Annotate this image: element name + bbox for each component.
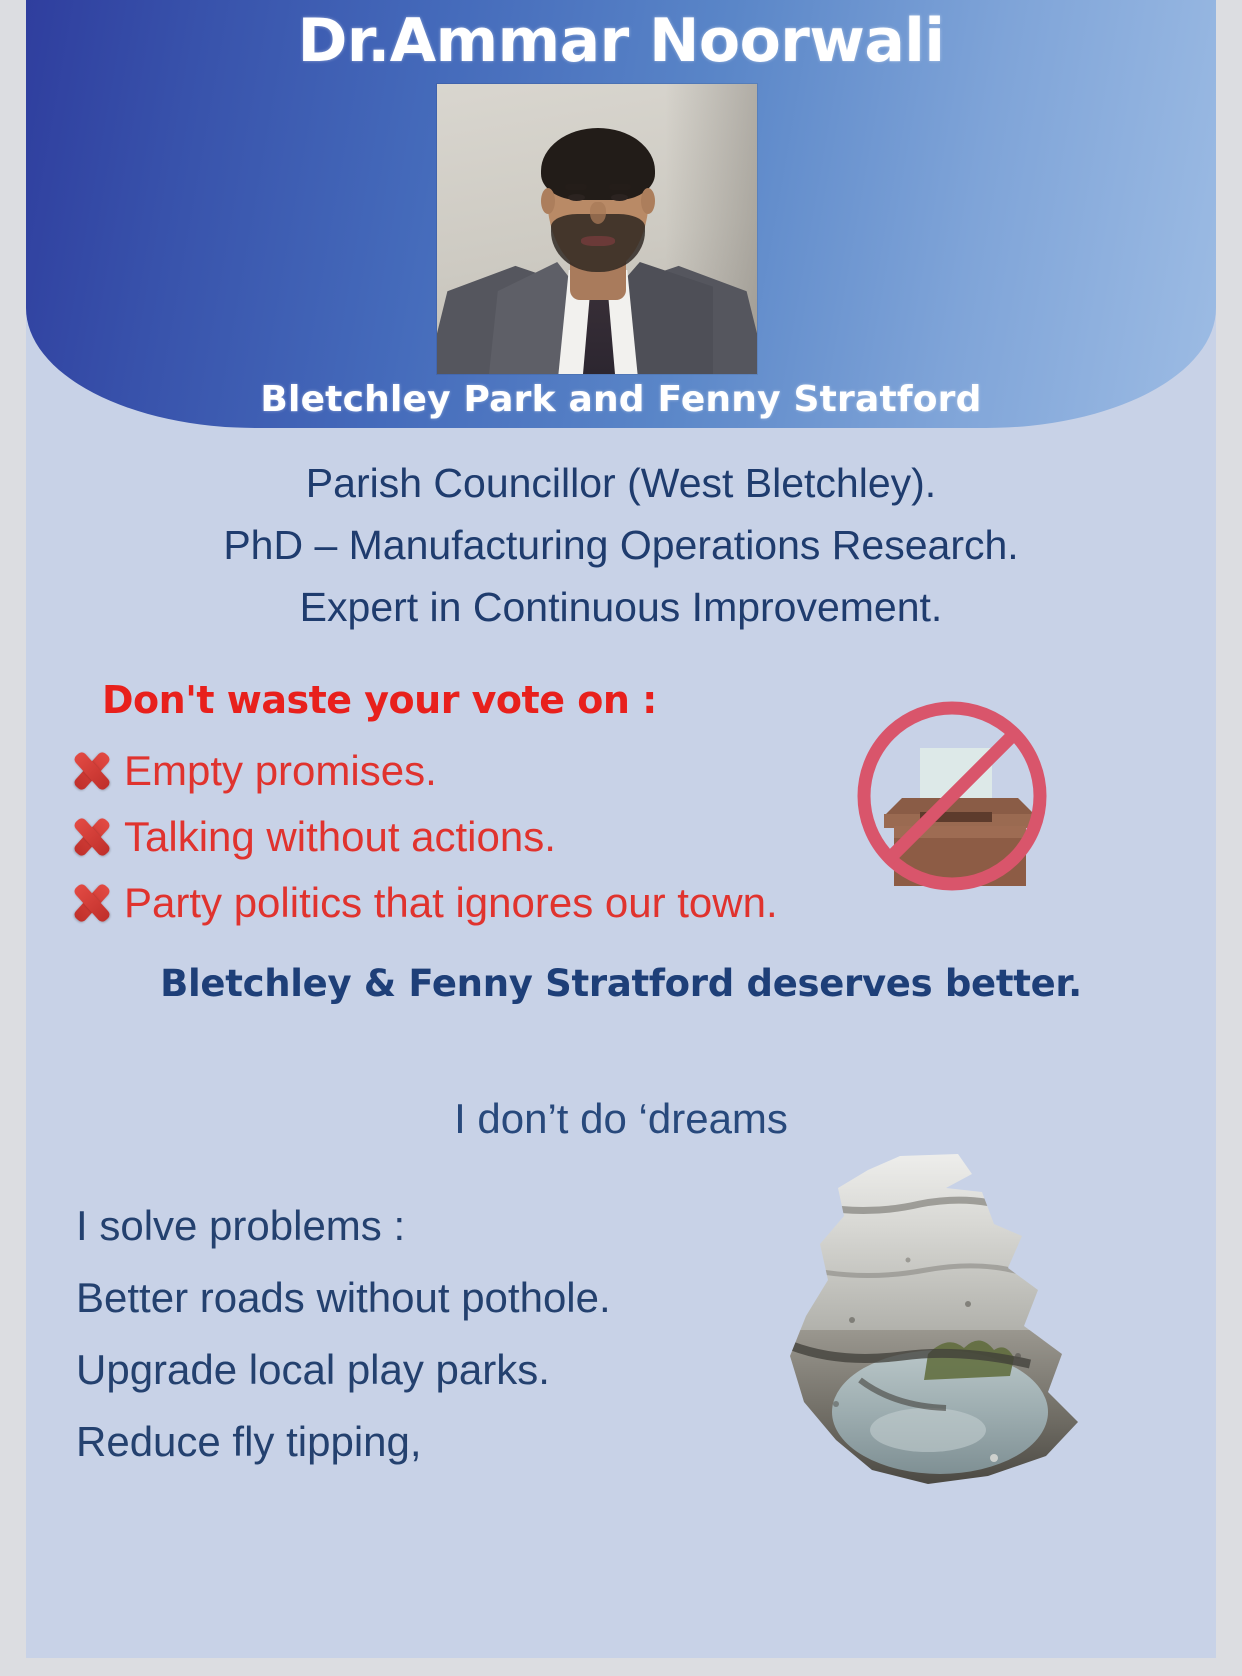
warning-item-label: Party politics that ignores our town. bbox=[124, 879, 778, 927]
warning-item-label: Empty promises. bbox=[124, 747, 437, 795]
warning-heading: Don't waste your vote on : bbox=[102, 678, 657, 722]
portrait-ear-left bbox=[541, 188, 555, 214]
ward-subtitle: Bletchley Park and Fenny Stratford bbox=[26, 379, 1216, 420]
portrait-eyebrow-left bbox=[565, 184, 587, 190]
credential-line: Parish Councillor (West Bletchley). bbox=[26, 452, 1216, 514]
pothole-gravel bbox=[849, 1317, 855, 1323]
portrait-eyebrow-right bbox=[609, 184, 631, 190]
list-item: Party politics that ignores our town. bbox=[66, 870, 926, 936]
pothole-water-reflection bbox=[870, 1408, 986, 1452]
pothole-gravel bbox=[1015, 1353, 1021, 1359]
header-banner: Dr.Ammar Noorwali Bletchley Park and Fen… bbox=[26, 0, 1216, 428]
warning-item-label: Talking without actions. bbox=[124, 813, 556, 861]
warning-list: Empty promises. Talking without actions.… bbox=[66, 738, 926, 936]
portrait-eye-left bbox=[568, 194, 585, 201]
list-item: Empty promises. bbox=[66, 738, 926, 804]
leaflet-card: Dr.Ammar Noorwali Bletchley Park and Fen… bbox=[26, 0, 1216, 1658]
page-title: Dr.Ammar Noorwali bbox=[26, 6, 1216, 76]
pothole-cutout-group bbox=[732, 1140, 1102, 1485]
solutions-list: I solve problems : Better roads without … bbox=[76, 1190, 776, 1478]
portrait-hair bbox=[541, 128, 655, 200]
x-mark-icon bbox=[66, 746, 118, 796]
pothole-gravel bbox=[833, 1401, 839, 1407]
pothole-asphalt-upper bbox=[732, 1140, 1102, 1340]
portrait-ear-right bbox=[641, 188, 655, 214]
list-item: Talking without actions. bbox=[66, 804, 926, 870]
solution-line: Upgrade local play parks. bbox=[76, 1334, 776, 1406]
x-mark-icon bbox=[66, 878, 118, 928]
credential-line: Expert in Continuous Improvement. bbox=[26, 576, 1216, 638]
credentials-block: Parish Councillor (West Bletchley). PhD … bbox=[26, 452, 1216, 638]
solution-line: Better roads without pothole. bbox=[76, 1262, 776, 1334]
portrait-mouth bbox=[581, 236, 615, 246]
solutions-intro: I solve problems : bbox=[76, 1190, 776, 1262]
no-ballot-box-icon bbox=[846, 690, 1058, 902]
dreams-line: I don’t do ‘dreams bbox=[26, 1095, 1216, 1143]
pothole-gravel bbox=[965, 1301, 971, 1307]
portrait-nose bbox=[590, 202, 606, 224]
pothole-gravel bbox=[990, 1454, 998, 1462]
credential-line: PhD – Manufacturing Operations Research. bbox=[26, 514, 1216, 576]
tagline: Bletchley & Fenny Stratford deserves bet… bbox=[26, 962, 1216, 1005]
x-mark-icon bbox=[66, 812, 118, 862]
pothole-photo bbox=[732, 1140, 1102, 1485]
candidate-portrait bbox=[437, 84, 757, 374]
pothole-gravel bbox=[906, 1258, 911, 1263]
solution-line: Reduce fly tipping, bbox=[76, 1406, 776, 1478]
portrait-eye-right bbox=[611, 194, 628, 201]
